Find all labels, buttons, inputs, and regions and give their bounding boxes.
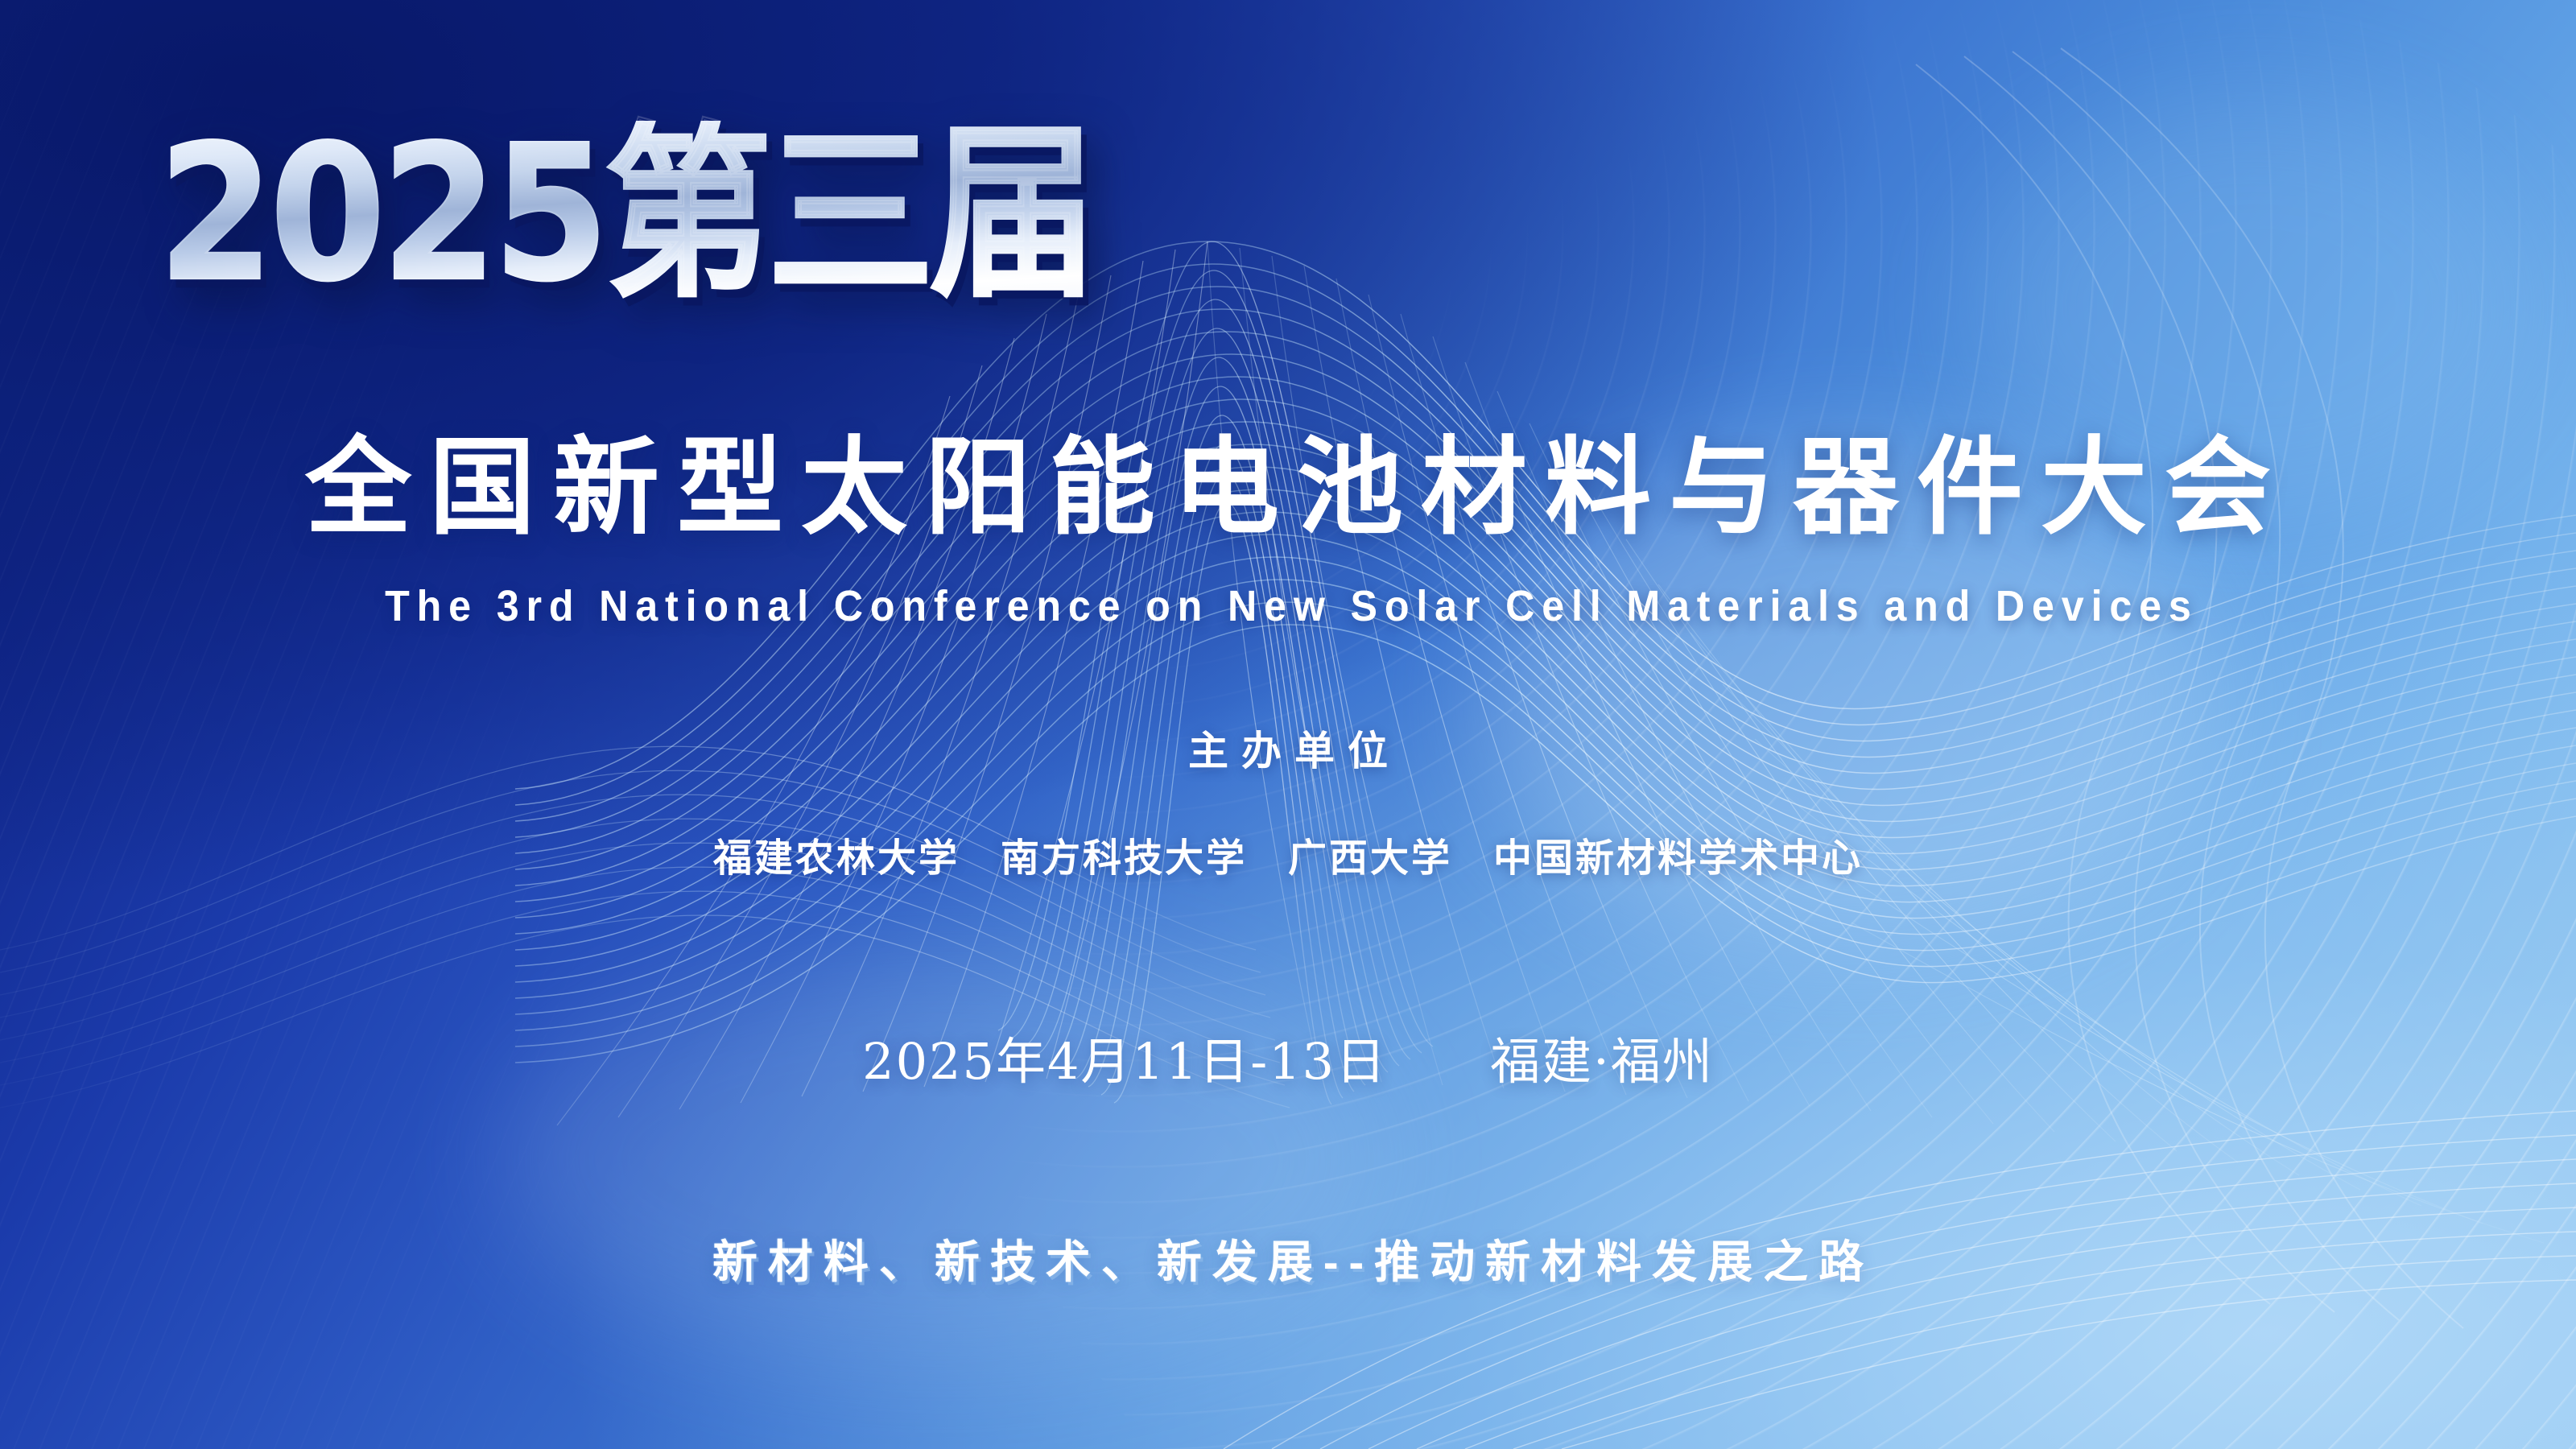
conference-title-english: The 3rd National Conference on New Solar… <box>90 584 2486 628</box>
conference-title-chinese: 全国新型太阳能电池材料与器件大会 <box>0 435 2576 541</box>
edition-title: 2025第三届 <box>158 121 1092 308</box>
organizer-label: 主办单位 <box>0 731 2576 771</box>
conference-slogan: 新材料、新技术、新发展--推动新材料发展之路 <box>0 1240 2576 1285</box>
conference-banner: 2025第三届 全国新型太阳能电池材料与器件大会 The 3rd Nationa… <box>0 0 2576 1449</box>
banner-content: 2025第三届 全国新型太阳能电池材料与器件大会 The 3rd Nationa… <box>0 0 2576 1449</box>
organizer-names: 福建农林大学 南方科技大学 广西大学 中国新材料学术中心 <box>0 839 2576 877</box>
date-and-venue: 2025年4月11日-13日 福建·福州 <box>0 1037 2576 1087</box>
